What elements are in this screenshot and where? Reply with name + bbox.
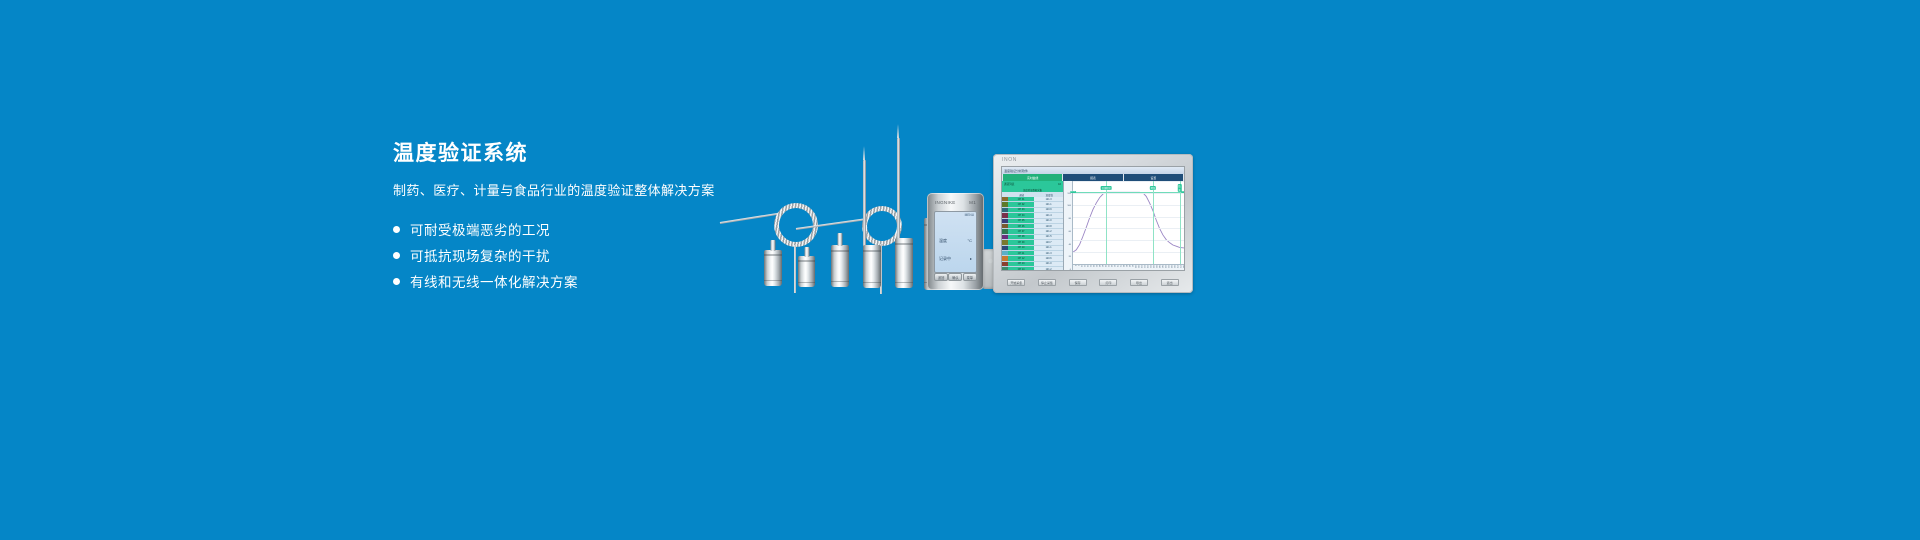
data-logger — [798, 256, 815, 287]
data-logger — [895, 238, 913, 288]
chart-threshold-line — [1073, 192, 1184, 193]
chart-y-axis: 140120100806040200 — [1064, 181, 1073, 270]
monitor-button-bar[interactable]: 开始采集 停止采集 保存 打印 导出 退出 — [1001, 275, 1185, 290]
chart-annotation-line — [1180, 181, 1181, 264]
stop-acquisition-button[interactable]: 停止采集 — [1038, 279, 1056, 286]
export-button[interactable]: 导出 — [1130, 279, 1148, 286]
handheld-screen-row: 记录中 ▸ — [939, 256, 972, 262]
start-acquisition-button[interactable]: 开始采集 — [1007, 279, 1025, 286]
channel-table-title: 通道列表 — [1004, 182, 1014, 186]
channel-rows: CH 01121.3 CH 02121.1 CH 03120.9 CH 0412… — [1002, 197, 1063, 270]
print-button[interactable]: 打印 — [1099, 279, 1117, 286]
chart-gridline — [1073, 252, 1184, 253]
chart-annotation-label: 结束 — [1177, 184, 1181, 192]
data-logger — [863, 245, 881, 288]
handheld-row-value: ▸ — [970, 256, 972, 262]
promo-banner: 温度验证系统 制药、医疗、计量与食品行业的温度验证整体解决方案 可耐受极端恶劣的… — [0, 0, 1920, 540]
tab-realtime-curve[interactable]: 实时曲线 — [1003, 174, 1062, 181]
monitor-display: INON 温度验证分析软件 实时曲线 报表 设置 通道列表 16 — [993, 154, 1193, 293]
chart-threshold-marker: 121 — [1181, 191, 1185, 193]
column-value: 温度值 — [1036, 193, 1064, 197]
chart-annotation-label: 灭菌阶段 — [1101, 186, 1112, 190]
chart-annotation-line — [1106, 181, 1107, 264]
tab-settings[interactable]: 设置 — [1124, 174, 1183, 181]
chart-gridline — [1073, 181, 1184, 182]
software-body: 通道列表 16 温度验证数据采集 通道 温度值 CH 01121.3 CH 02… — [1002, 181, 1184, 270]
tab-report[interactable]: 报表 — [1063, 174, 1122, 181]
channel-table: 通道列表 16 温度验证数据采集 通道 温度值 CH 01121.3 CH 02… — [1002, 181, 1064, 270]
handheld-key-confirm[interactable]: 确认 — [948, 273, 962, 281]
feature-label: 有线和无线一体化解决方案 — [410, 271, 578, 291]
handheld-keypad[interactable]: 返回 确认 菜单 — [934, 269, 977, 285]
chart-x-axis: 0510152025303540455055606570758085909510… — [1073, 264, 1184, 270]
product-photo-group: INGNIKE M1 MENU 温度 °C 记录中 ▸ 返回 确认 菜单 — [700, 110, 1260, 330]
monitor-screen: 温度验证分析软件 实时曲线 报表 设置 通道列表 16 温度验证数据采集 — [1001, 166, 1185, 271]
handheld-row-label: 温度 — [939, 238, 947, 244]
table-row[interactable]: CH 14121.2 — [1002, 267, 1063, 270]
handheld-reader-device[interactable]: INGNIKE M1 MENU 温度 °C 记录中 ▸ 返回 确认 菜单 — [927, 193, 984, 290]
chart-y-tick: 40 — [1069, 244, 1071, 246]
handheld-screen: MENU 温度 °C 记录中 ▸ — [934, 211, 977, 273]
monitor-brand: INON — [1002, 157, 1017, 163]
chart-y-tick: 0 — [1070, 269, 1071, 271]
chart-y-tick: 140 — [1067, 180, 1071, 182]
chart-y-tick: 60 — [1069, 231, 1071, 233]
handheld-brand: INGNIKE — [935, 200, 956, 205]
handheld-key-menu[interactable]: 菜单 — [963, 273, 977, 281]
channel-count-badge: 16 — [1058, 183, 1061, 186]
bullet-dot-icon — [393, 278, 400, 285]
data-logger — [831, 245, 849, 287]
feature-label: 可抵抗现场复杂的干扰 — [410, 245, 550, 265]
handheld-row-label: 记录中 — [939, 256, 951, 262]
handheld-brand-row: INGNIKE M1 — [935, 200, 976, 205]
chart-threshold-marker: 121 — [1070, 191, 1076, 193]
chart-gridline — [1073, 240, 1184, 241]
handheld-screen-header: MENU — [965, 213, 974, 217]
software-tabbar[interactable]: 实时曲线 报表 设置 — [1002, 174, 1184, 181]
chart-gridline — [1073, 228, 1184, 229]
software-titlebar: 温度验证分析软件 — [1002, 167, 1184, 174]
exit-button[interactable]: 退出 — [1161, 279, 1179, 286]
chart-annotation-label: 降温 — [1150, 186, 1156, 190]
chart-plot-area: 121121灭菌阶段降温结束 — [1073, 181, 1184, 264]
handheld-key-back[interactable]: 返回 — [934, 273, 948, 281]
handheld-model: M1 — [969, 200, 976, 205]
chart-gridline — [1073, 217, 1184, 218]
bullet-dot-icon — [393, 226, 400, 233]
handheld-row-value: °C — [968, 238, 973, 244]
chart-y-tick: 80 — [1069, 218, 1071, 220]
handheld-screen-row: 温度 °C — [939, 238, 972, 244]
save-button[interactable]: 保存 — [1069, 279, 1087, 286]
temperature-chart: 140120100806040200 121121灭菌阶段降温结束 051015… — [1064, 181, 1184, 270]
bullet-dot-icon — [393, 252, 400, 259]
column-channel: 通道 — [1008, 193, 1036, 197]
data-logger — [764, 250, 782, 286]
chart-y-tick: 100 — [1067, 205, 1071, 207]
chart-y-tick: 20 — [1069, 256, 1071, 258]
feature-label: 可耐受极端恶劣的工况 — [410, 219, 550, 239]
chart-gridline — [1073, 205, 1184, 206]
software-title: 温度验证分析软件 — [1004, 169, 1028, 173]
chart-annotation-line — [1153, 181, 1154, 264]
